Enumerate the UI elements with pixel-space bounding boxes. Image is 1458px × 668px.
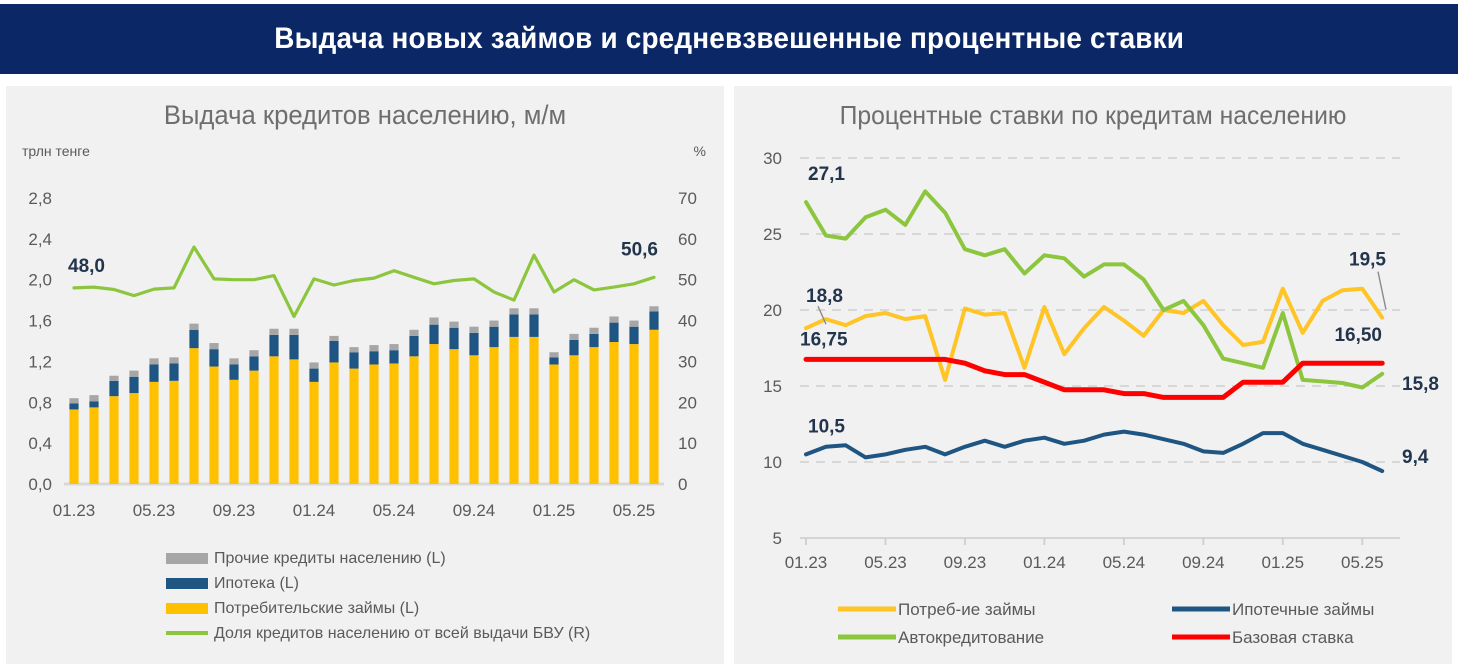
right-x-tick: 05.24 xyxy=(1103,553,1146,572)
bar-segment xyxy=(349,352,358,368)
bar-segment xyxy=(389,344,398,350)
bar-segment xyxy=(409,330,418,336)
bar-segment xyxy=(329,362,338,484)
bar-segment xyxy=(409,336,418,356)
bar-segment xyxy=(549,364,558,484)
left-y2-tick: 70 xyxy=(678,189,697,208)
bar-segment xyxy=(509,337,518,484)
bar-segment xyxy=(649,306,658,311)
legend-swatch xyxy=(166,578,208,589)
bar-segment xyxy=(129,371,138,377)
left-chart-panel: Выдача кредитов населению, м/м трлн тенг… xyxy=(6,86,724,664)
right-x-tick: 01.25 xyxy=(1262,553,1305,572)
right-x-tick: 01.24 xyxy=(1023,553,1066,572)
page-root: Выдача новых займов и средневзвешенные п… xyxy=(0,0,1458,668)
bar-segment xyxy=(269,335,278,356)
series-line xyxy=(806,289,1382,380)
bar-segment xyxy=(369,351,378,364)
bar-segment xyxy=(629,327,638,344)
bar-segment xyxy=(229,364,238,379)
right-x-tick: 05.23 xyxy=(864,553,907,572)
left-bars-group xyxy=(69,306,658,484)
left-y2-tick: 10 xyxy=(678,434,697,453)
bar-segment xyxy=(589,347,598,484)
bar-segment xyxy=(629,344,638,484)
bar-segment xyxy=(469,355,478,484)
bar-segment xyxy=(349,369,358,484)
bar-segment xyxy=(469,327,478,333)
left-y-tick: 1,2 xyxy=(28,352,52,371)
bar-segment xyxy=(269,356,278,484)
right-chart-panel: Процентные ставки по кредитам населению … xyxy=(734,86,1452,664)
bar-segment xyxy=(509,308,518,314)
callout-base-last: 16,50 xyxy=(1334,325,1382,346)
bar-segment xyxy=(149,358,158,364)
bar-segment xyxy=(209,367,218,484)
bar-segment xyxy=(449,322,458,328)
left-y2-tick: 60 xyxy=(678,230,697,249)
page-title: Выдача новых займов и средневзвешенные п… xyxy=(274,22,1184,56)
bar-segment xyxy=(549,357,558,364)
bar-segment xyxy=(549,352,558,357)
bar-segment xyxy=(609,316,618,322)
bar-segment xyxy=(289,329,298,335)
left-x-tick: 05.23 xyxy=(133,501,176,520)
bar-segment xyxy=(369,364,378,484)
left-axis-unit: трлн тенге xyxy=(22,143,90,159)
series-line xyxy=(806,432,1382,472)
legend-swatch xyxy=(166,603,208,614)
bar-segment xyxy=(629,321,638,327)
bar-segment xyxy=(69,403,78,409)
bar-segment xyxy=(209,349,218,366)
bar-segment xyxy=(189,348,198,484)
left-chart-canvas: трлн тенге%0,00,40,81,21,62,02,42,801020… xyxy=(6,86,724,664)
bar-segment xyxy=(189,324,198,330)
bar-segment xyxy=(129,393,138,484)
bar-segment xyxy=(589,328,598,334)
bar-segment xyxy=(489,327,498,347)
bar-segment xyxy=(329,341,338,362)
bar-segment xyxy=(309,382,318,484)
left-y2-tick: 0 xyxy=(678,475,687,494)
callout-base-first: 16,75 xyxy=(800,329,848,350)
bar-segment xyxy=(429,318,438,325)
bar-segment xyxy=(569,334,578,340)
bar-segment xyxy=(69,409,78,484)
left-x-tick: 01.23 xyxy=(53,501,96,520)
left-x-tick: 05.24 xyxy=(373,501,416,520)
bar-segment xyxy=(329,336,338,341)
left-y-tick: 2,8 xyxy=(28,189,52,208)
left-y2-tick: 50 xyxy=(678,271,697,290)
bar-segment xyxy=(409,356,418,484)
bar-segment xyxy=(489,347,498,484)
bar-segment xyxy=(109,396,118,484)
callout-first-share: 48,0 xyxy=(68,256,105,277)
right-x-tick: 09.24 xyxy=(1182,553,1225,572)
bar-segment xyxy=(509,314,518,336)
right-y-tick: 30 xyxy=(763,149,782,168)
callout-consumer-first: 18,8 xyxy=(806,286,843,307)
bar-segment xyxy=(289,335,298,360)
left-y-tick: 1,6 xyxy=(28,312,52,331)
left-y-tick: 0,8 xyxy=(28,393,52,412)
legend-label: Прочие кредиты населению (L) xyxy=(214,550,446,567)
bar-segment xyxy=(289,359,298,484)
callout-auto-first: 27,1 xyxy=(808,164,845,185)
right-x-tick: 09.23 xyxy=(944,553,987,572)
left-chart-svg: трлн тенге%0,00,40,81,21,62,02,42,801020… xyxy=(6,86,724,664)
bar-segment xyxy=(449,328,458,349)
legend-label: Потреб-ие займы xyxy=(898,600,1036,619)
bar-segment xyxy=(89,395,98,401)
bar-segment xyxy=(569,340,578,355)
right-chart-canvas: 5101520253001.2305.2309.2301.2405.2409.2… xyxy=(734,86,1452,664)
legend-label: Доля кредитов населению от всей выдачи Б… xyxy=(214,625,590,642)
bar-segment xyxy=(109,376,118,381)
bar-segment xyxy=(169,381,178,484)
callout-auto-last: 15,8 xyxy=(1402,374,1439,395)
left-y-tick: 2,0 xyxy=(28,271,52,290)
legend-label: Потребительские займы (L) xyxy=(214,600,419,617)
bar-segment xyxy=(129,377,138,393)
left-y2-tick: 30 xyxy=(678,352,697,371)
bar-segment xyxy=(589,334,598,347)
bar-segment xyxy=(429,325,438,344)
legend-swatch xyxy=(166,553,208,564)
bar-segment xyxy=(169,363,178,380)
right-y-tick: 5 xyxy=(773,529,782,548)
right-x-tick: 01.23 xyxy=(785,553,828,572)
right-y-tick: 20 xyxy=(763,301,782,320)
legend-label: Базовая ставка xyxy=(1232,628,1354,647)
right-y-tick: 25 xyxy=(763,225,782,244)
left-legend: Прочие кредиты населению (L)Ипотека (L)П… xyxy=(166,550,590,642)
bar-segment xyxy=(109,381,118,396)
bar-segment xyxy=(149,382,158,484)
bar-segment xyxy=(209,343,218,349)
bar-segment xyxy=(189,330,198,348)
callout-mortgage-first: 10,5 xyxy=(808,416,845,437)
legend-label: Ипотечные займы xyxy=(1232,600,1374,619)
callout-consumer-last: 19,5 xyxy=(1349,250,1386,271)
right-axis-unit: % xyxy=(694,143,706,159)
bar-segment xyxy=(649,330,658,484)
share-line xyxy=(74,247,654,317)
left-y-tick: 0,4 xyxy=(28,434,52,453)
right-y-tick: 15 xyxy=(763,377,782,396)
right-chart-svg: 5101520253001.2305.2309.2301.2405.2409.2… xyxy=(734,86,1452,664)
right-x-tick: 05.25 xyxy=(1341,553,1384,572)
bar-segment xyxy=(389,363,398,484)
bar-segment xyxy=(309,369,318,382)
bar-segment xyxy=(149,364,158,381)
bar-segment xyxy=(609,323,618,342)
left-y2-tick: 20 xyxy=(678,393,697,412)
right-legend: Потреб-ие займыИпотечные займыАвтокредит… xyxy=(838,600,1374,647)
bar-segment xyxy=(529,308,538,314)
bar-segment xyxy=(429,344,438,484)
bar-segment xyxy=(229,380,238,484)
bar-segment xyxy=(249,356,258,370)
bar-segment xyxy=(609,342,618,484)
bar-segment xyxy=(169,357,178,363)
left-x-tick: 09.23 xyxy=(213,501,256,520)
left-x-tick: 05.25 xyxy=(613,501,656,520)
legend-label: Ипотека (L) xyxy=(214,575,299,592)
bar-segment xyxy=(89,401,98,407)
bar-segment xyxy=(449,349,458,484)
bar-segment xyxy=(469,333,478,355)
callout-leader xyxy=(1378,272,1386,310)
bar-segment xyxy=(349,347,358,352)
bar-segment xyxy=(529,314,538,336)
bar-segment xyxy=(569,355,578,484)
callout-mortgage-last: 9,4 xyxy=(1402,447,1429,468)
callout-last-share: 50,6 xyxy=(621,239,658,260)
header-bar: Выдача новых займов и средневзвешенные п… xyxy=(0,4,1458,74)
left-x-tick: 01.24 xyxy=(293,501,336,520)
bar-segment xyxy=(249,371,258,484)
legend-label: Автокредитование xyxy=(898,628,1044,647)
bar-segment xyxy=(269,329,278,335)
bar-segment xyxy=(369,345,378,351)
right-y-tick: 10 xyxy=(763,453,782,472)
left-x-tick: 09.24 xyxy=(453,501,496,520)
left-y2-tick: 40 xyxy=(678,312,697,331)
bar-segment xyxy=(89,407,98,484)
bar-segment xyxy=(529,337,538,484)
bar-segment xyxy=(649,311,658,329)
bar-segment xyxy=(389,350,398,363)
left-y-tick: 2,4 xyxy=(28,230,52,249)
bar-segment xyxy=(69,398,78,403)
bar-segment xyxy=(249,350,258,356)
series-line xyxy=(806,359,1382,397)
left-y-tick: 0,0 xyxy=(28,475,52,494)
left-x-tick: 01.25 xyxy=(533,501,576,520)
bar-segment xyxy=(489,321,498,327)
bar-segment xyxy=(309,362,318,368)
bar-segment xyxy=(229,358,238,364)
